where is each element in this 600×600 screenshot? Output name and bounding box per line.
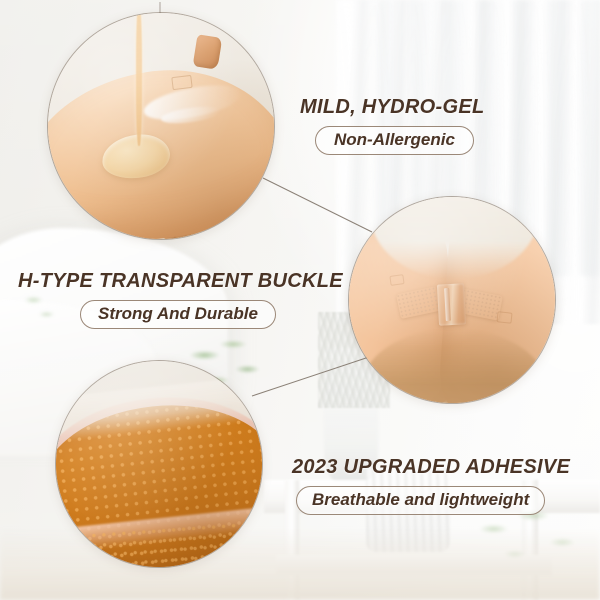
feature-headline-adhesive: 2023 UPGRADED ADHESIVE bbox=[292, 456, 570, 479]
buckle-shading-overlay bbox=[349, 197, 555, 403]
callout-image-gel bbox=[47, 12, 275, 240]
adhesive-shading-overlay bbox=[56, 361, 262, 567]
feature-headline-buckle: H-TYPE TRANSPARENT BUCKLE bbox=[18, 270, 343, 293]
feature-badge-gel: Non-Allergenic bbox=[315, 126, 474, 155]
callout-image-adhesive bbox=[55, 360, 263, 568]
product-feature-collage: MILD, HYDRO-GEL Non-Allergenic H-TYPE TR… bbox=[0, 0, 600, 600]
callout-image-buckle bbox=[348, 196, 556, 404]
feature-text-gel: MILD, HYDRO-GEL Non-Allergenic bbox=[300, 96, 485, 155]
feature-text-adhesive: 2023 UPGRADED ADHESIVE Breathable and li… bbox=[292, 456, 570, 515]
feature-badge-buckle: Strong And Durable bbox=[80, 300, 276, 329]
feature-text-buckle: H-TYPE TRANSPARENT BUCKLE Strong And Dur… bbox=[18, 270, 343, 329]
feature-badge-adhesive: Breathable and lightweight bbox=[296, 486, 545, 515]
feature-headline-gel: MILD, HYDRO-GEL bbox=[300, 96, 485, 119]
gel-shading-overlay bbox=[48, 13, 274, 239]
